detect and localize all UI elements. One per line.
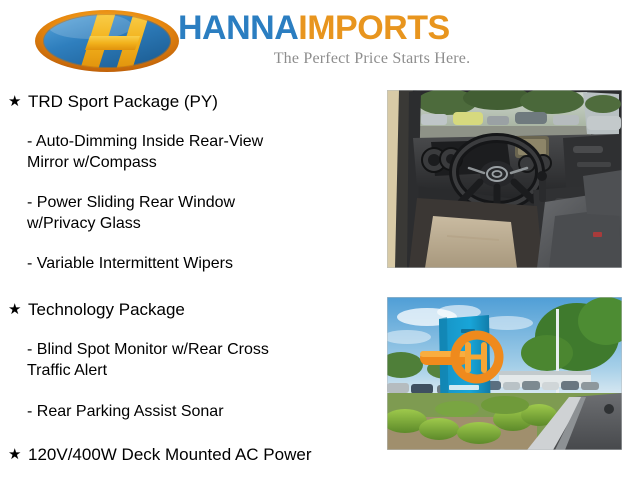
vehicle-interior-photo-image [387, 90, 622, 268]
package-label-technology: Technology Package [28, 298, 185, 322]
feature-item-line: - Variable Intermittent Wipers [27, 253, 377, 274]
brand-text-block: HANNAIMPORTS The Perfect Price Starts He… [178, 10, 528, 72]
feature-package-heading: ★ TRD Sport Package (PY) [0, 90, 380, 114]
feature-item: - Blind Spot Monitor w/Rear Cross Traffi… [27, 339, 377, 381]
feature-package-heading: ★ 120V/400W Deck Mounted AC Power [0, 443, 380, 467]
brand-tagline: The Perfect Price Starts Here. [216, 50, 528, 68]
feature-list: ★ TRD Sport Package (PY) - Auto-Dimming … [0, 88, 380, 480]
wordmark-imports: IMPORTS [298, 9, 449, 47]
wordmark-hanna: HANNA [178, 9, 298, 47]
feature-item-line: - Power Sliding Rear Window [27, 192, 377, 213]
feature-item-line: w/Privacy Glass [27, 213, 377, 234]
vehicle-interior-photo[interactable] [387, 90, 622, 268]
star-bullet-icon: ★ [8, 443, 24, 467]
dealership-sign-photo[interactable] [387, 297, 622, 450]
star-bullet-icon: ★ [8, 90, 24, 114]
feature-item-line: Mirror w/Compass [27, 152, 377, 173]
feature-package-heading: ★ Technology Package [0, 298, 380, 322]
star-bullet-icon: ★ [8, 298, 24, 322]
package-label-ac-power: 120V/400W Deck Mounted AC Power [28, 443, 311, 467]
feature-item-line: - Rear Parking Assist Sonar [27, 401, 377, 422]
feature-item: - Rear Parking Assist Sonar [27, 401, 377, 422]
dealer-branding-header: HANNAIMPORTS The Perfect Price Starts He… [0, 0, 640, 82]
feature-item-line: - Auto-Dimming Inside Rear-View [27, 131, 377, 152]
vehicle-feature-slide: HANNAIMPORTS The Perfect Price Starts He… [0, 0, 640, 480]
feature-item: - Power Sliding Rear Window w/Privacy Gl… [27, 192, 377, 234]
hanna-imports-emblem-icon [32, 8, 182, 74]
dealer-logo [32, 8, 182, 74]
feature-item: - Auto-Dimming Inside Rear-View Mirror w… [27, 131, 377, 173]
dealership-sign-photo-image [387, 297, 622, 450]
package-label-trd-sport: TRD Sport Package (PY) [28, 90, 218, 114]
brand-wordmark: HANNAIMPORTS [178, 10, 528, 46]
feature-item-line: - Blind Spot Monitor w/Rear Cross [27, 339, 377, 360]
feature-item-line: Traffic Alert [27, 360, 377, 381]
feature-item: - Variable Intermittent Wipers [27, 253, 377, 274]
